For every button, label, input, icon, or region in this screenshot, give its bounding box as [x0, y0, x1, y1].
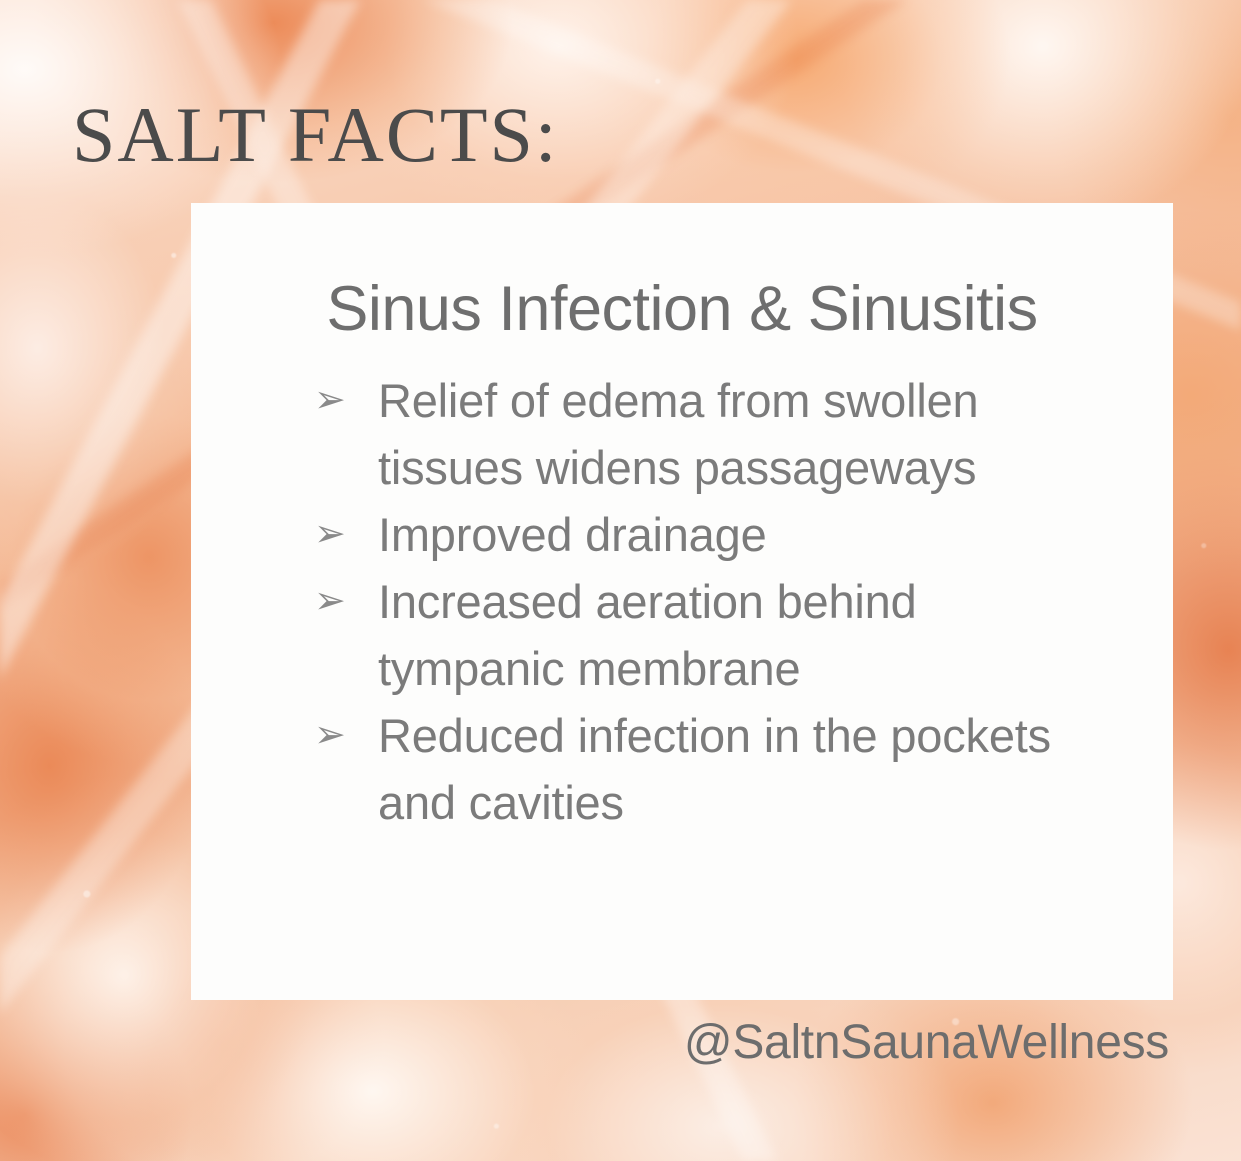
list-item: ➢ Reduced infection in the pockets and c… [314, 702, 1173, 836]
page-title: SALT FACTS: [72, 96, 559, 174]
arrow-bullet-icon: ➢ [314, 501, 378, 568]
content-card: Sinus Infection & Sinusitis ➢ Relief of … [191, 203, 1173, 1000]
list-item: ➢ Improved drainage [314, 501, 1173, 568]
list-item-label: Improved drainage [378, 501, 1018, 568]
list-item-label: Relief of edema from swollen tissues wid… [378, 367, 1018, 501]
arrow-bullet-icon: ➢ [314, 367, 378, 434]
arrow-bullet-icon: ➢ [314, 568, 378, 635]
list-item: ➢ Increased aeration behind tympanic mem… [314, 568, 1173, 702]
list-item-label: Reduced infection in the pockets and cav… [378, 702, 1078, 836]
card-heading: Sinus Infection & Sinusitis [191, 203, 1173, 341]
list-item-label: Increased aeration behind tympanic membr… [378, 568, 1018, 702]
social-handle: @SaltnSaunaWellness [684, 1019, 1169, 1067]
benefits-list: ➢ Relief of edema from swollen tissues w… [191, 341, 1173, 836]
list-item: ➢ Relief of edema from swollen tissues w… [314, 367, 1173, 501]
arrow-bullet-icon: ➢ [314, 702, 378, 769]
